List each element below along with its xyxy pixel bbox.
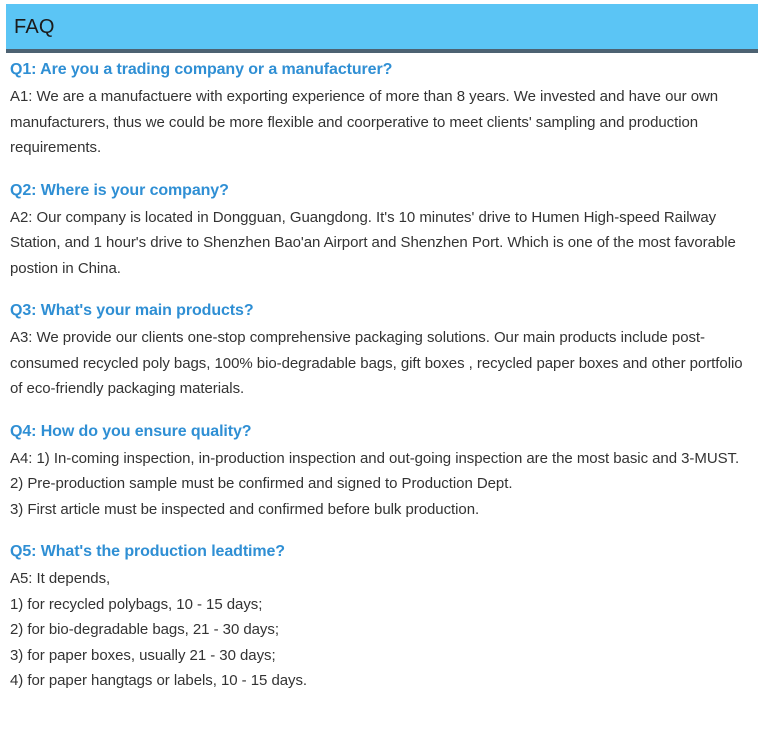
faq-answer-line: 1) for recycled polybags, 10 - 15 days;: [10, 592, 755, 618]
faq-question: Q4: How do you ensure quality?: [10, 419, 755, 445]
faq-question: Q2: Where is your company?: [10, 178, 755, 204]
faq-page: FAQ Q1: Are you a trading company or a m…: [0, 0, 765, 748]
faq-item: Q4: How do you ensure quality? A4: 1) In…: [10, 419, 755, 523]
faq-answer-line: A4: 1) In-coming inspection, in-producti…: [10, 446, 755, 472]
faq-question: Q1: Are you a trading company or a manuf…: [10, 57, 755, 83]
faq-answer-line: A1: We are a manufactuere with exporting…: [10, 84, 755, 161]
faq-item: Q2: Where is your company? A2: Our compa…: [10, 178, 755, 282]
faq-question: Q5: What's the production leadtime?: [10, 539, 755, 565]
faq-answer: A4: 1) In-coming inspection, in-producti…: [10, 446, 755, 523]
faq-answer-line: 4) for paper hangtags or labels, 10 - 15…: [10, 668, 755, 694]
faq-answer-line: 3) First article must be inspected and c…: [10, 497, 755, 523]
faq-item: Q1: Are you a trading company or a manuf…: [10, 57, 755, 161]
faq-answer-line: 3) for paper boxes, usually 21 - 30 days…: [10, 643, 755, 669]
faq-question: Q3: What's your main products?: [10, 298, 755, 324]
faq-answer: A2: Our company is located in Dongguan, …: [10, 205, 755, 282]
faq-answer-line: A2: Our company is located in Dongguan, …: [10, 205, 755, 282]
faq-answer: A5: It depends, 1) for recycled polybags…: [10, 566, 755, 694]
faq-answer-line: A5: It depends,: [10, 566, 755, 592]
faq-list: Q1: Are you a trading company or a manuf…: [10, 57, 755, 694]
faq-header-bar: FAQ: [6, 4, 758, 53]
faq-item: Q5: What's the production leadtime? A5: …: [10, 539, 755, 694]
faq-answer-line: 2) for bio-degradable bags, 21 - 30 days…: [10, 617, 755, 643]
faq-item: Q3: What's your main products? A3: We pr…: [10, 298, 755, 402]
faq-answer-line: 2) Pre-production sample must be confirm…: [10, 471, 755, 497]
faq-answer: A3: We provide our clients one-stop comp…: [10, 325, 755, 402]
page-title: FAQ: [6, 16, 55, 38]
faq-answer-line: A3: We provide our clients one-stop comp…: [10, 325, 755, 402]
faq-answer: A1: We are a manufactuere with exporting…: [10, 84, 755, 161]
